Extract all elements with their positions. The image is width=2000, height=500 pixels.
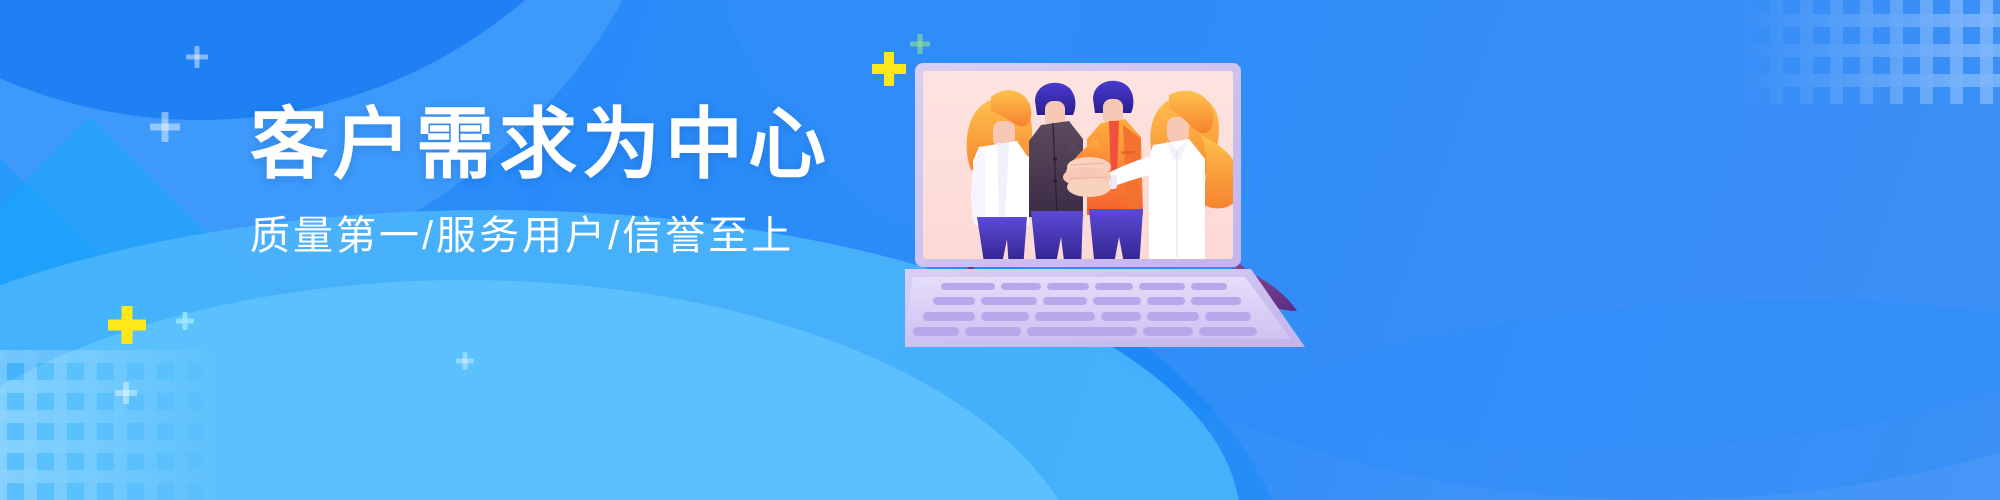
plus-sparkle-icon — [456, 352, 474, 370]
plus-accent-icon — [872, 52, 906, 86]
plus-sparkle-icon — [150, 112, 180, 142]
stacked-hands — [1063, 157, 1111, 197]
plus-sparkle-icon — [115, 382, 137, 404]
banner-headline: 客户需求为中心 — [250, 105, 890, 183]
plus-sparkle-icon — [186, 46, 208, 68]
dot-grid-bottom-left — [0, 350, 224, 500]
banner-text-block: 客户需求为中心 质量第一/服务用户/信誉至上 — [250, 105, 890, 259]
plus-sparkle-icon — [910, 34, 930, 54]
plus-sparkle-icon — [176, 312, 194, 330]
plus-accent-icon — [108, 306, 146, 344]
team-handshake-scene — [967, 81, 1242, 275]
laptop-illustration — [905, 55, 1305, 355]
promo-banner: 客户需求为中心 质量第一/服务用户/信誉至上 — [0, 0, 2000, 500]
dot-grid-top-right — [1740, 0, 2000, 104]
banner-subhead: 质量第一/服务用户/信誉至上 — [250, 213, 890, 259]
